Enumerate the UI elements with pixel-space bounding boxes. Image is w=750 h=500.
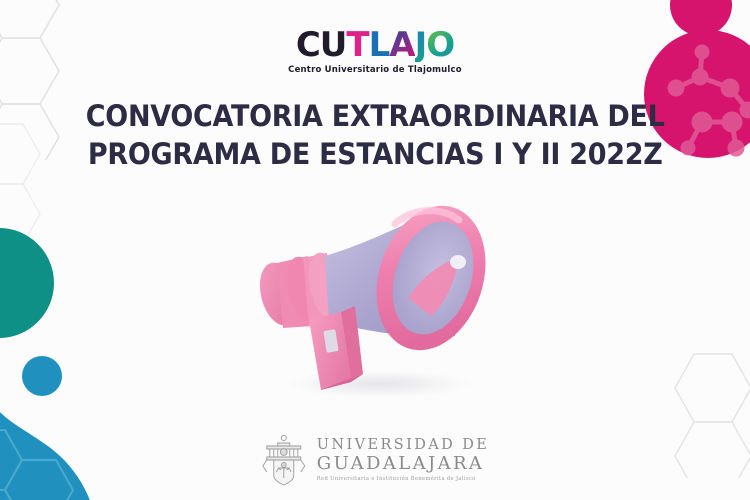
logo-letter-t: T bbox=[346, 28, 368, 62]
poster-canvas: C U T L A J O Centro Universitario de Tl… bbox=[0, 0, 750, 500]
logo-letter-j: J bbox=[415, 28, 427, 62]
logo-letter-o: O bbox=[426, 28, 454, 62]
cutlajo-logo: C U T L A J O Centro Universitario de Tl… bbox=[288, 28, 462, 75]
headline-line-2: PROGRAMA DE ESTANCIAS I Y II 2022Z bbox=[86, 135, 665, 173]
cutlajo-wordmark: C U T L A J O bbox=[288, 28, 462, 62]
logo-letter-l: L bbox=[369, 28, 390, 62]
megaphone-illustration bbox=[245, 186, 505, 401]
page-title: CONVOCATORIA EXTRAORDINARIA DEL PROGRAMA… bbox=[86, 97, 665, 174]
logo-letter-a: A bbox=[389, 28, 414, 62]
cutlajo-subtitle: Centro Universitario de Tlajomulco bbox=[288, 65, 462, 75]
logo-letter-c: C bbox=[296, 28, 320, 62]
logo-letter-u: U bbox=[320, 28, 347, 62]
megaphone-icon bbox=[245, 186, 505, 401]
poster-content: C U T L A J O Centro Universitario de Tl… bbox=[0, 0, 750, 500]
headline-line-1: CONVOCATORIA EXTRAORDINARIA DEL bbox=[86, 97, 665, 135]
